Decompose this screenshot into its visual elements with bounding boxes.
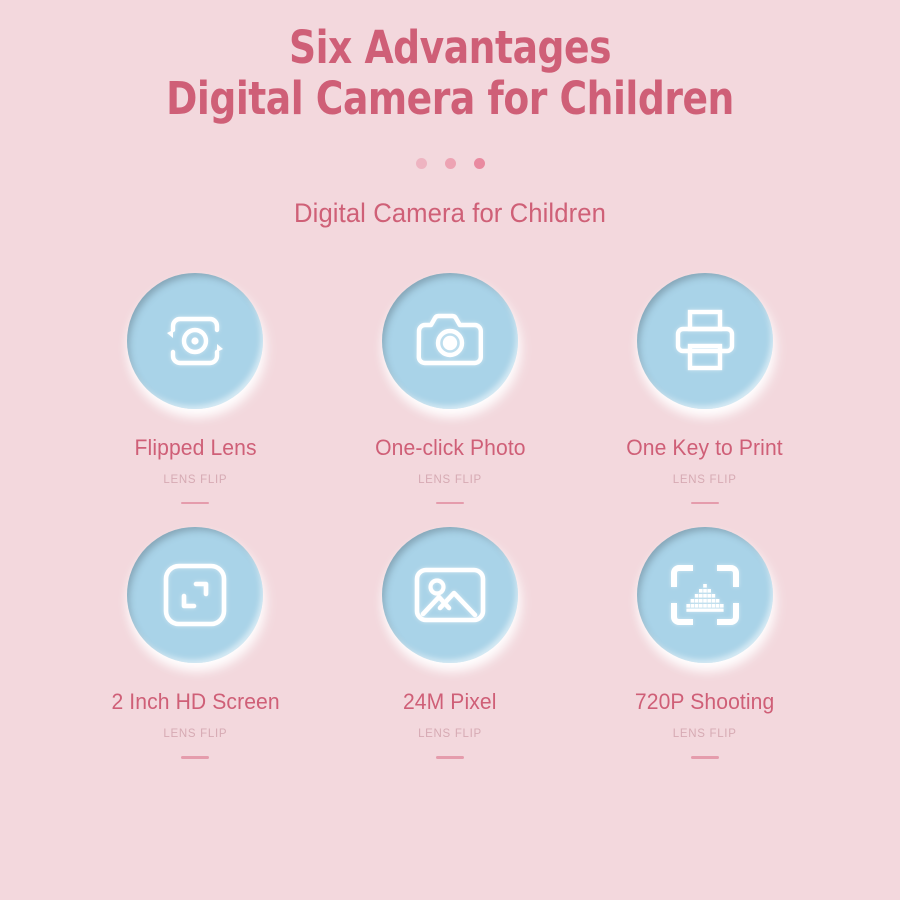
feature-card-one-click-photo[interactable]: One-click Photo LENS FLIP xyxy=(323,273,578,505)
dot-2-icon xyxy=(445,158,456,169)
infographic-page: Six Advantages Digital Camera for Childr… xyxy=(0,0,900,900)
icon-badge xyxy=(637,273,773,409)
camera-icon xyxy=(382,273,518,409)
camera-flip-icon xyxy=(127,273,263,409)
screen-resize-icon xyxy=(127,527,263,663)
feature-divider xyxy=(691,756,719,759)
icon-badge xyxy=(382,527,518,663)
focus-frame-icon xyxy=(637,527,773,663)
feature-grid: Flipped Lens LENS FLIP One-click Photo L… xyxy=(0,273,900,759)
header: Six Advantages Digital Camera for Childr… xyxy=(0,0,900,229)
printer-icon xyxy=(637,273,773,409)
feature-label: One Key to Print xyxy=(626,435,782,461)
feature-sublabel: LENS FLIP xyxy=(673,474,737,486)
feature-sublabel: LENS FLIP xyxy=(163,474,227,486)
page-title-line-2: Digital Camera for Children xyxy=(32,73,869,124)
feature-card-24m-pixel[interactable]: 24M Pixel LENS FLIP xyxy=(323,527,578,759)
page-subtitle: Digital Camera for Children xyxy=(23,198,878,229)
feature-label: 24M Pixel xyxy=(403,689,497,715)
feature-card-2-inch-hd-screen[interactable]: 2 Inch HD Screen LENS FLIP xyxy=(68,527,323,759)
icon-badge xyxy=(637,527,773,663)
dot-3-icon xyxy=(474,158,485,169)
icon-badge xyxy=(382,273,518,409)
feature-divider xyxy=(691,502,719,505)
feature-label: One-click Photo xyxy=(375,435,526,461)
feature-divider xyxy=(181,502,209,505)
feature-label: Flipped Lens xyxy=(134,435,256,461)
feature-sublabel: LENS FLIP xyxy=(673,728,737,740)
feature-divider xyxy=(436,502,464,505)
feature-divider xyxy=(436,756,464,759)
feature-divider xyxy=(181,756,209,759)
image-photo-icon xyxy=(382,527,518,663)
feature-label: 720P Shooting xyxy=(635,689,774,715)
decorative-dots xyxy=(0,158,900,169)
feature-sublabel: LENS FLIP xyxy=(163,728,227,740)
feature-card-one-key-to-print[interactable]: One Key to Print LENS FLIP xyxy=(577,273,832,505)
feature-sublabel: LENS FLIP xyxy=(418,474,482,486)
icon-badge xyxy=(127,273,263,409)
feature-label: 2 Inch HD Screen xyxy=(111,689,279,715)
feature-card-720p-shooting[interactable]: 720P Shooting LENS FLIP xyxy=(577,527,832,759)
feature-sublabel: LENS FLIP xyxy=(418,728,482,740)
dot-1-icon xyxy=(416,158,427,169)
page-title-line-1: Six Advantages xyxy=(32,22,869,73)
icon-badge xyxy=(127,527,263,663)
feature-card-flipped-lens[interactable]: Flipped Lens LENS FLIP xyxy=(68,273,323,505)
